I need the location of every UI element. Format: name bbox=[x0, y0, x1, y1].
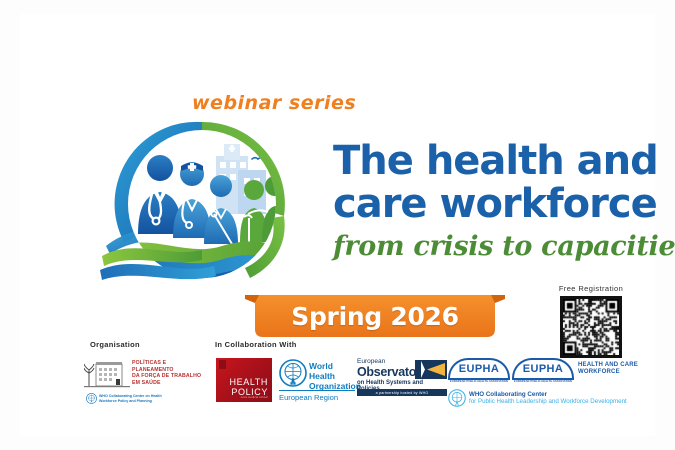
eupha-logo-primary: EUPHA EUROPEAN PUBLIC HEALTH ASSOCIATION bbox=[448, 358, 510, 384]
ppfts-who-cc: WHO Collaborating Center on Health Workf… bbox=[86, 392, 206, 405]
eupha-expansion-2: EUROPEAN PUBLIC HEALTH ASSOCIATION bbox=[512, 380, 574, 383]
eupha-section-line-1: HEALTH AND CARE bbox=[578, 362, 640, 369]
ppfts-name-line-3: EM SAÚDE bbox=[132, 380, 206, 387]
ppfts-name: POLÍTICAS E PLANEAMENTO DA FORÇA DE TRAB… bbox=[132, 360, 206, 386]
webinar-series-kicker: webinar series bbox=[192, 92, 356, 114]
observatory-line-4: a partnership hosted by WHO bbox=[357, 389, 447, 396]
health-workforce-logo bbox=[98, 118, 310, 298]
eupha-acronym-2: EUPHA bbox=[512, 363, 574, 375]
who-name: World Health Organization bbox=[309, 361, 361, 391]
health-policy-name: HEALTH POLICY bbox=[216, 378, 268, 397]
partner-logo-row: POLÍTICAS E PLANEAMENTO DA FORÇA DE TRAB… bbox=[20, 356, 675, 418]
eupha-expansion-1: EUROPEAN PUBLIC HEALTH ASSOCIATION bbox=[448, 380, 510, 383]
headline-line-1: The health and bbox=[333, 140, 653, 183]
free-registration-label: Free Registration bbox=[551, 284, 631, 293]
eupha-acronym-1: EUPHA bbox=[448, 363, 510, 375]
who-emblem-icon-2 bbox=[448, 389, 466, 407]
who-emblem-icon bbox=[86, 393, 97, 404]
health-policy-mark bbox=[219, 360, 226, 369]
ppfts-name-line-2: DA FORÇA DE TRABALHO bbox=[132, 373, 206, 380]
webinar-poster: webinar series bbox=[0, 0, 675, 450]
eupha-who-cc: WHO Collaborating Center for Public Heal… bbox=[448, 388, 660, 408]
poster-footer: Organisation In Collaboration With bbox=[20, 340, 675, 430]
who-logo: World Health Organization European Regio… bbox=[279, 358, 355, 404]
ppfts-name-line-1: POLÍTICAS E PLANEAMENTO bbox=[132, 360, 206, 373]
eupha-logo-group: EUPHA EUROPEAN PUBLIC HEALTH ASSOCIATION… bbox=[448, 356, 660, 414]
who-name-line-1: World Health bbox=[309, 361, 361, 381]
observatory-line-1: European bbox=[357, 358, 385, 365]
ppfts-whocc-line-2: Workforce Policy and Planning bbox=[99, 399, 162, 404]
eupha-logo-section: EUPHA EUROPEAN PUBLIC HEALTH ASSOCIATION bbox=[512, 358, 574, 384]
eupha-section-name: HEALTH AND CARE WORKFORCE bbox=[578, 362, 640, 376]
who-emblem-icon bbox=[279, 359, 307, 387]
eupha-whocc-line-2: for Public Health Leadership and Workfor… bbox=[469, 398, 627, 405]
headline-subtitle: from crisis to capacities bbox=[333, 231, 653, 262]
eupha-section-line-2: WORKFORCE bbox=[578, 369, 640, 376]
poster-headline: The health and care workforce from crisi… bbox=[333, 140, 653, 262]
eupha-whocc-line-1: WHO Collaborating Center bbox=[469, 391, 627, 398]
health-policy-fineprint: nova medical school bbox=[241, 396, 268, 399]
observatory-mark-icon bbox=[415, 360, 447, 379]
health-policy-logo: HEALTH POLICY nova medical school bbox=[216, 358, 272, 402]
collaboration-label: In Collaboration With bbox=[215, 340, 297, 349]
season-banner-text: Spring 2026 bbox=[245, 295, 505, 337]
ppfts-whocc-line-1: WHO Collaborating Center on Health bbox=[99, 394, 162, 399]
ppfts-logo: POLÍTICAS E PLANEAMENTO DA FORÇA DE TRAB… bbox=[84, 358, 206, 406]
poster-card: webinar series bbox=[20, 14, 655, 436]
observatory-logo: European Observatory on Health Systems a… bbox=[357, 358, 447, 404]
building-icon bbox=[84, 360, 130, 390]
headline-line-2: care workforce bbox=[333, 183, 653, 226]
who-region: European Region bbox=[279, 390, 355, 402]
season-banner: Spring 2026 bbox=[245, 295, 505, 337]
organisation-label: Organisation bbox=[90, 340, 140, 349]
